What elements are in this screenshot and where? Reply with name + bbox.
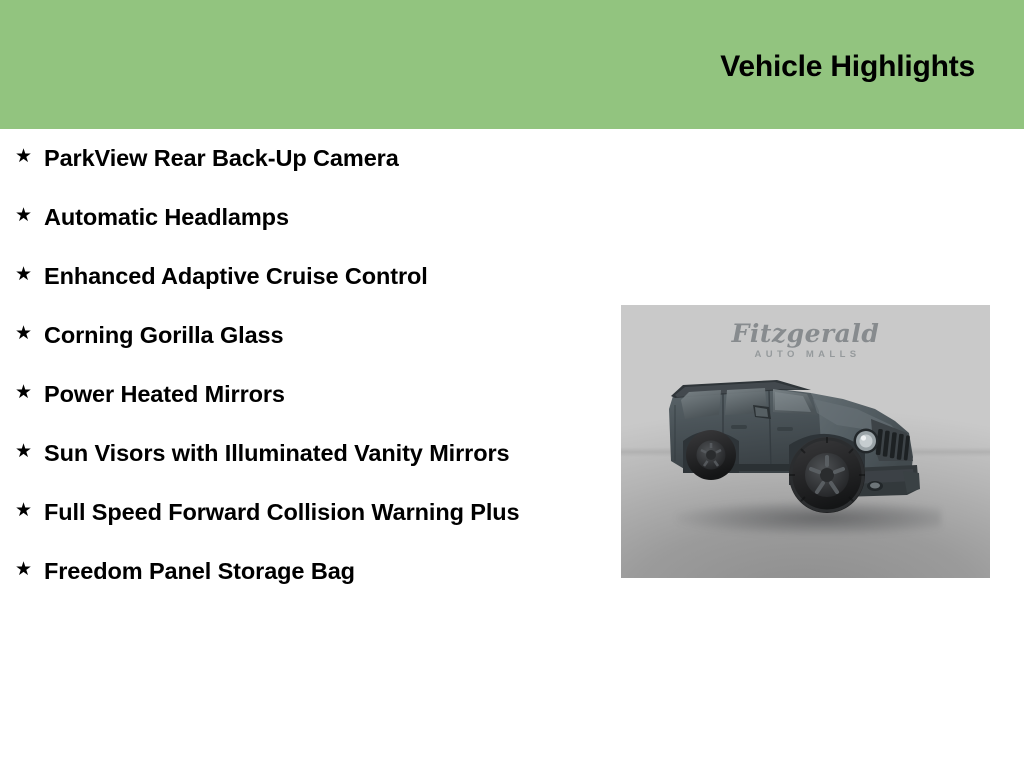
list-item: ★ Power Heated Mirrors xyxy=(0,377,600,411)
page-title: Vehicle Highlights xyxy=(720,50,975,84)
star-bullet-icon: ★ xyxy=(15,554,44,585)
highlight-label: Power Heated Mirrors xyxy=(44,377,544,411)
list-item: ★ Corning Gorilla Glass xyxy=(0,318,600,352)
highlight-label: Full Speed Forward Collision Warning Plu… xyxy=(44,495,544,529)
star-bullet-icon: ★ xyxy=(15,495,44,526)
list-item: ★ Automatic Headlamps xyxy=(0,200,600,234)
highlight-label: ParkView Rear Back-Up Camera xyxy=(44,141,544,175)
star-bullet-icon: ★ xyxy=(15,436,44,467)
list-item: ★ Full Speed Forward Collision Warning P… xyxy=(0,495,600,529)
star-bullet-icon: ★ xyxy=(15,141,44,172)
list-item: ★ Enhanced Adaptive Cruise Control xyxy=(0,259,600,293)
star-bullet-icon: ★ xyxy=(15,377,44,408)
header-band: Vehicle Highlights xyxy=(0,0,1024,129)
list-item: ★ ParkView Rear Back-Up Camera xyxy=(0,141,600,175)
highlight-label: Corning Gorilla Glass xyxy=(44,318,544,352)
highlight-label: Sun Visors with Illuminated Vanity Mirro… xyxy=(44,436,544,470)
star-bullet-icon: ★ xyxy=(15,200,44,231)
list-item: ★ Freedom Panel Storage Bag xyxy=(0,554,600,588)
list-item: ★ Sun Visors with Illuminated Vanity Mir… xyxy=(0,436,600,470)
vehicle-highlights-page: Vehicle Highlights ★ ParkView Rear Back-… xyxy=(0,0,1024,768)
highlight-label: Freedom Panel Storage Bag xyxy=(44,554,544,588)
vehicle-highlights-list: ★ ParkView Rear Back-Up Camera ★ Automat… xyxy=(0,141,600,613)
highlight-label: Enhanced Adaptive Cruise Control xyxy=(44,259,544,293)
vehicle-photo: Fitzgerald AUTO MALLS xyxy=(621,305,990,578)
highlight-label: Automatic Headlamps xyxy=(44,200,544,234)
jeep-wrangler-illustration xyxy=(661,349,946,549)
star-bullet-icon: ★ xyxy=(15,318,44,349)
star-bullet-icon: ★ xyxy=(15,259,44,290)
